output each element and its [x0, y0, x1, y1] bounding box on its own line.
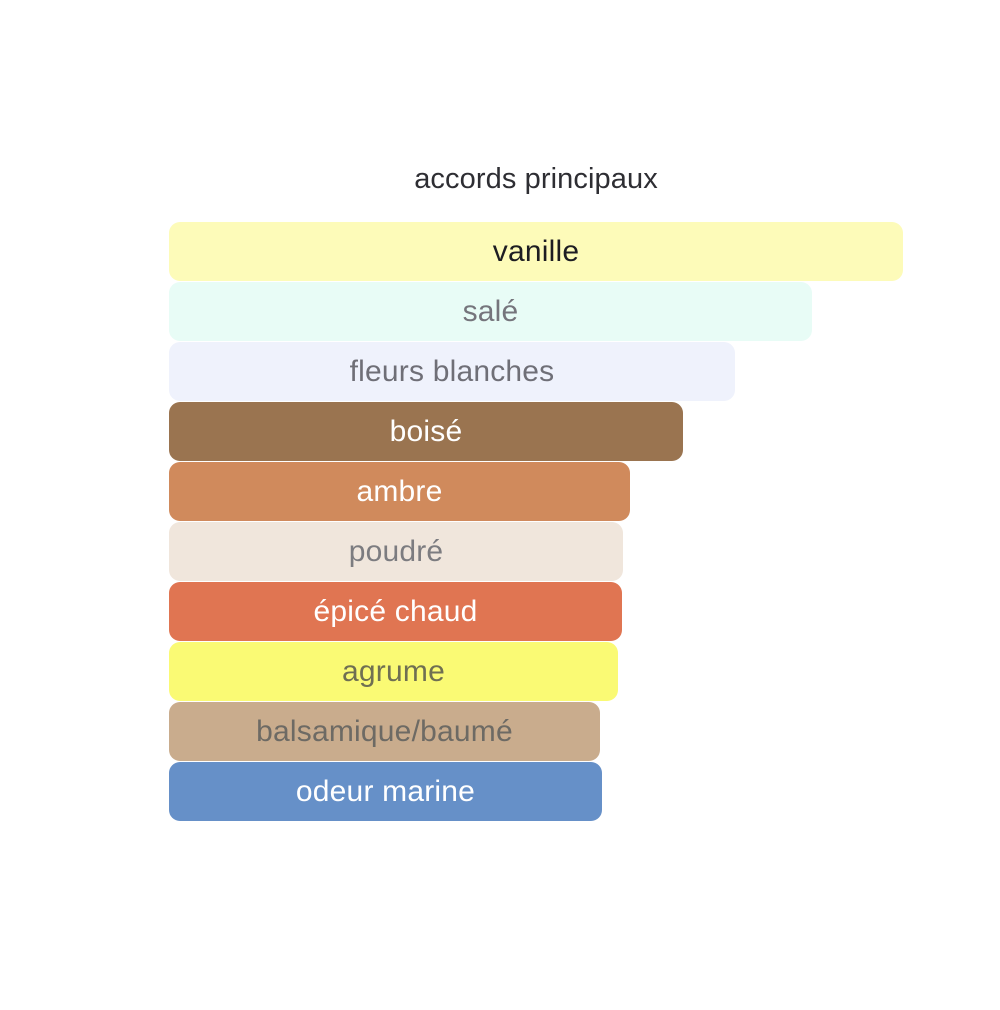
accord-bar-row[interactable]: vanille: [169, 222, 929, 281]
accord-bar-row[interactable]: salé: [169, 282, 929, 341]
accord-bar-list: vanille salé fleurs blanches boisé ambre: [169, 222, 929, 822]
accord-bar-label-poudre: poudré: [169, 522, 623, 581]
accord-bar-label-boise: boisé: [169, 402, 683, 461]
accord-bar-label-fleurs-blanches: fleurs blanches: [169, 342, 735, 401]
accord-bar-label-epice-chaud: épicé chaud: [169, 582, 622, 641]
accord-bar-row[interactable]: balsamique/baumé: [169, 702, 929, 761]
accord-bar-row[interactable]: poudré: [169, 522, 929, 581]
accord-bar-row[interactable]: ambre: [169, 462, 929, 521]
accord-bar-label-ambre: ambre: [169, 462, 630, 521]
accord-bar-row[interactable]: agrume: [169, 642, 929, 701]
accord-bar-row[interactable]: boisé: [169, 402, 929, 461]
accord-bar-label-vanille: vanille: [169, 222, 903, 281]
accords-chart-panel: accords principaux vanille salé fleurs b…: [0, 0, 1000, 1010]
accord-bar-row[interactable]: fleurs blanches: [169, 342, 929, 401]
accord-bar-row[interactable]: épicé chaud: [169, 582, 929, 641]
accords-chart-canvas: accords principaux vanille salé fleurs b…: [0, 0, 1000, 1010]
accord-bar-label-agrume: agrume: [169, 642, 618, 701]
accord-bar-label-sale: salé: [169, 282, 812, 341]
accord-bar-label-odeur-marine: odeur marine: [169, 762, 602, 821]
accord-bar-row[interactable]: odeur marine: [169, 762, 929, 821]
accord-bar-label-balsamique-baume: balsamique/baumé: [169, 702, 600, 761]
chart-title: accords principaux: [169, 162, 903, 196]
